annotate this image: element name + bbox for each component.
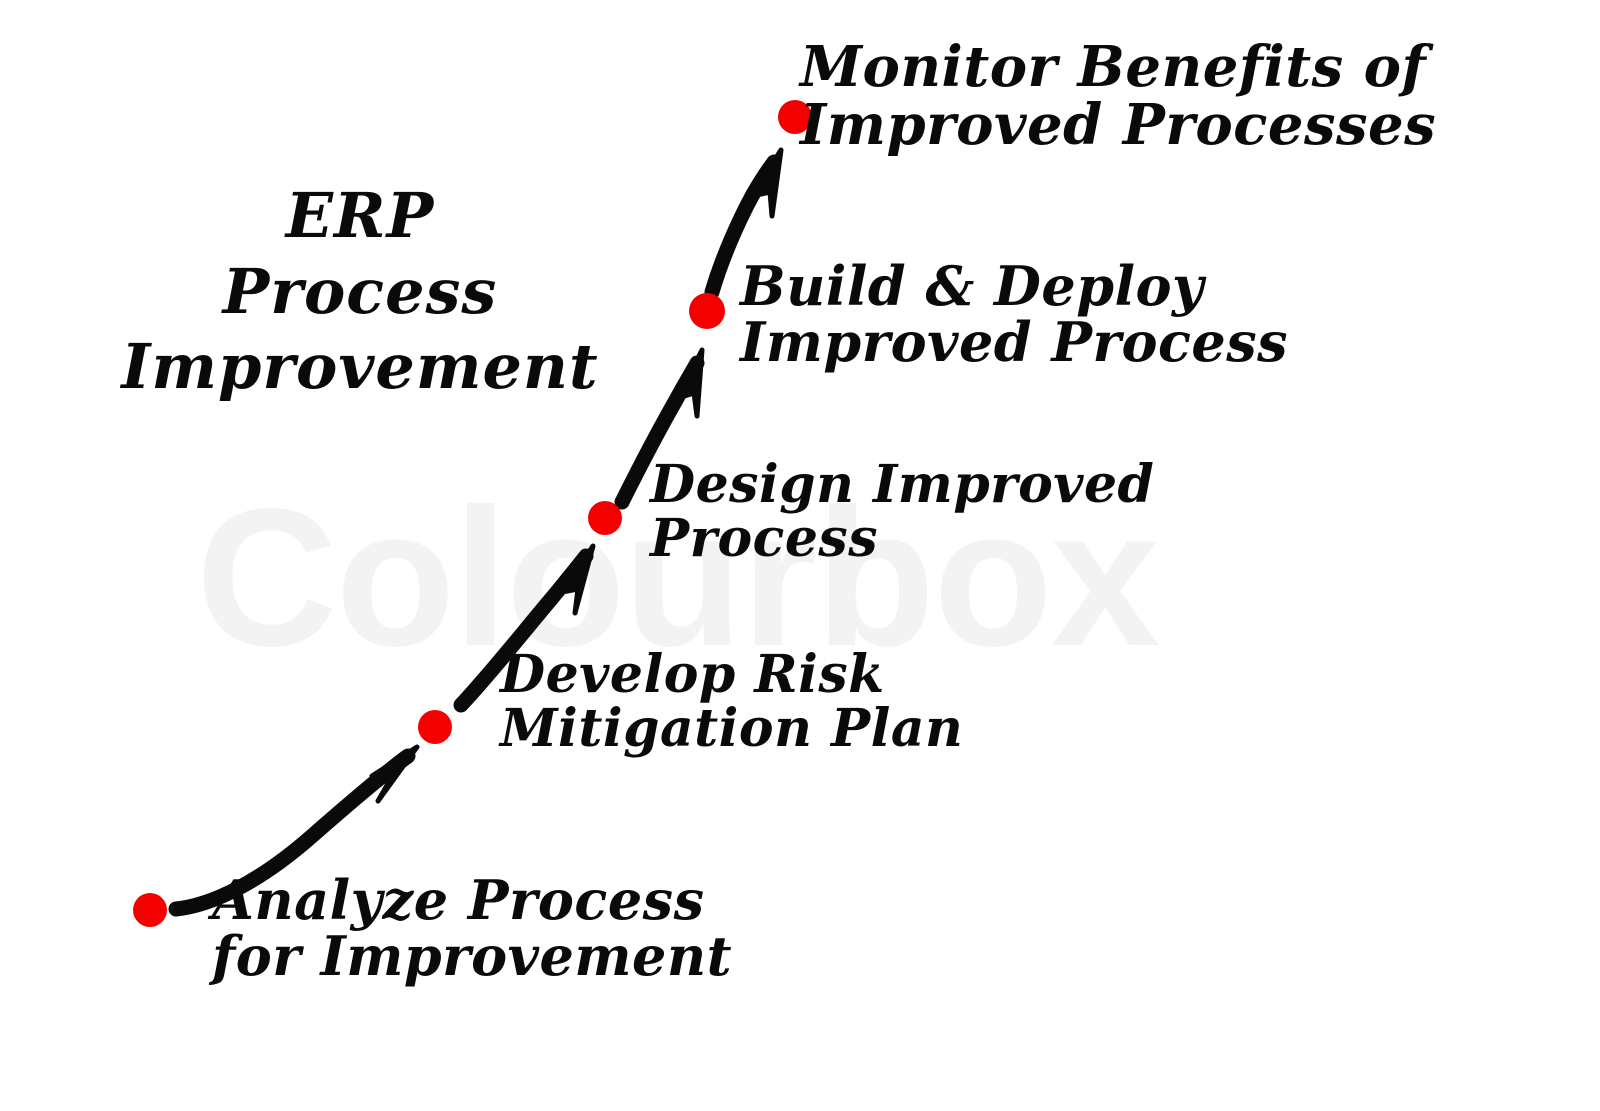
step-label-monitor-benefits: Monitor Benefits of Improved Processes xyxy=(800,38,1436,154)
step-label-build-deploy: Build & Deploy Improved Process xyxy=(740,258,1288,370)
diagram-title: ERP Process Improvement xyxy=(60,178,660,405)
step-label-analyze-process: Analyze Process for Improvement xyxy=(212,872,732,984)
node-dot-analyze[interactable] xyxy=(133,893,167,927)
step-label-design-improved-process: Design Improved Process xyxy=(650,458,1154,566)
step-label-develop-risk-mitigation-plan: Develop Risk Mitigation Plan xyxy=(500,648,963,756)
node-dot-build-deploy[interactable] xyxy=(689,293,725,329)
node-dot-design[interactable] xyxy=(588,501,622,535)
diagram-canvas: Colourbox ERP Process Improvement xyxy=(0,0,1600,1111)
node-dot-develop-risk[interactable] xyxy=(418,710,452,744)
arrow-head xyxy=(372,747,417,801)
